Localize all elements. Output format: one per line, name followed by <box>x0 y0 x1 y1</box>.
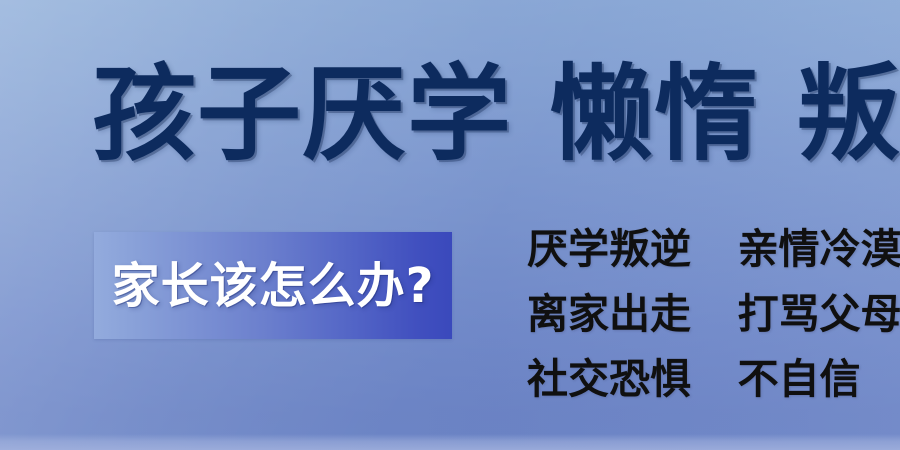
symptom-item-left: 离家出走 <box>527 290 691 338</box>
poster-canvas: 孩子厌学 懒惰 叛逆 家长该怎么办? 厌学叛逆 亲情冷漠 离家出走 打骂父母 社… <box>0 0 900 450</box>
symptom-item-left: 社交恐惧 <box>527 355 691 403</box>
symptom-list: 厌学叛逆 亲情冷漠 离家出走 打骂父母 社交恐惧 不自信 <box>527 229 827 400</box>
call-to-action-badge[interactable]: 家长该怎么办? <box>94 232 452 339</box>
page-title: 孩子厌学 懒惰 叛逆 <box>92 56 832 172</box>
symptom-row: 离家出走 打骂父母 <box>527 294 827 335</box>
symptom-item-right: 亲情冷漠 <box>738 225 900 273</box>
symptom-item-right: 打骂父母 <box>738 290 900 338</box>
symptom-item-right: 不自信 <box>738 355 861 403</box>
symptom-row: 社交恐惧 不自信 <box>527 359 827 400</box>
bottom-edge-band <box>0 434 900 450</box>
symptom-item-left: 厌学叛逆 <box>527 225 691 273</box>
symptom-row: 厌学叛逆 亲情冷漠 <box>527 229 827 270</box>
call-to-action-badge-label: 家长该怎么办? <box>112 262 435 310</box>
